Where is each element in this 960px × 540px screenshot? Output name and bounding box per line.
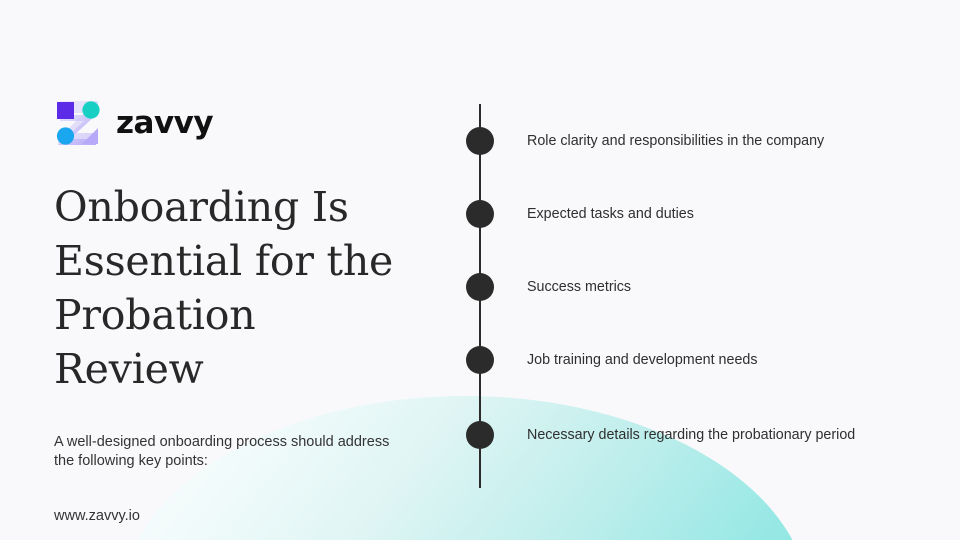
list-item: Job training and development needs [466,346,936,374]
list-item: Expected tasks and duties [466,200,936,228]
timeline-bullet-icon [466,421,494,449]
timeline-bullet-icon [466,346,494,374]
timeline-bullet-icon [466,273,494,301]
list-item-label: Role clarity and responsibilities in the… [527,131,824,151]
subtitle-text: A well-designed onboarding process shoul… [54,433,394,471]
list-item-label: Job training and development needs [527,350,758,370]
brand-logo-row[interactable]: zavvy [54,96,444,150]
list-item: Necessary details regarding the probatio… [466,421,936,449]
brand-wordmark: zavvy [116,108,213,139]
timeline-list: Role clarity and responsibilities in the… [466,104,936,490]
list-item: Role clarity and responsibilities in the… [466,127,936,155]
list-item-label: Expected tasks and duties [527,204,694,224]
list-item-label: Necessary details regarding the probatio… [527,425,855,445]
slide-canvas: zavvy Onboarding Is Essential for the Pr… [0,0,960,540]
zavvy-z-logo-icon [54,99,102,147]
website-url: www.zavvy.io [54,507,444,526]
list-item-label: Success metrics [527,277,631,297]
page-title: Onboarding Is Essential for the Probatio… [54,180,414,396]
left-content-column: zavvy Onboarding Is Essential for the Pr… [54,96,444,526]
list-item: Success metrics [466,273,936,301]
timeline-bullet-icon [466,127,494,155]
timeline-bullet-icon [466,200,494,228]
